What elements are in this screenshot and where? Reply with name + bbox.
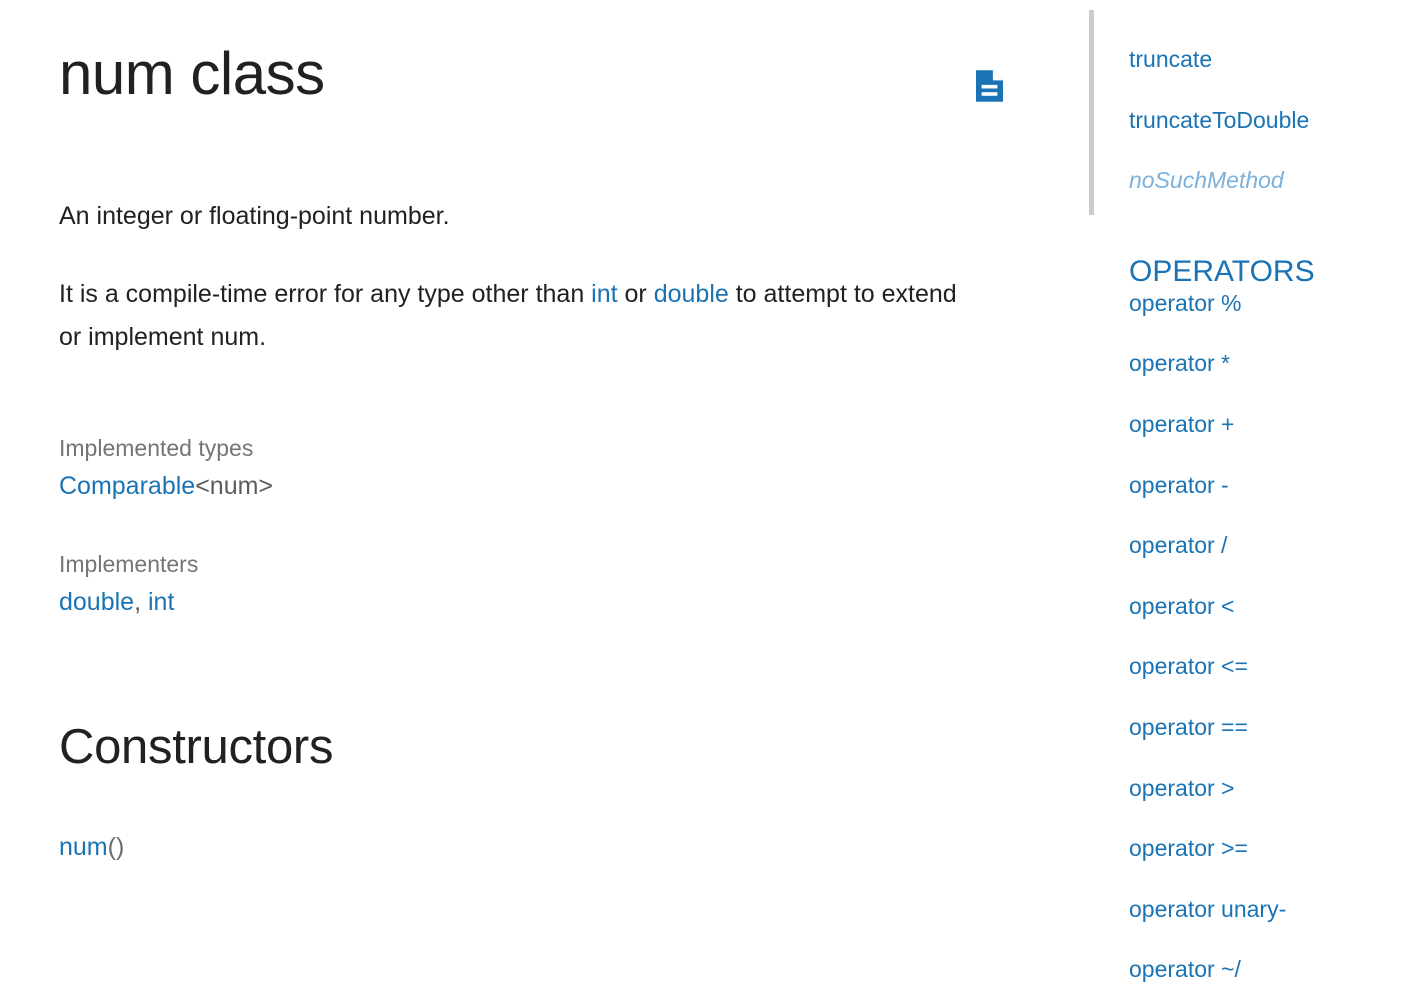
page-title: num class bbox=[59, 0, 1040, 105]
sidebar-item-truncatetodouble[interactable]: truncateToDouble bbox=[1129, 74, 1422, 135]
comparable-link[interactable]: Comparable bbox=[59, 472, 195, 500]
sidebar-operators-list: operator % operator * operator + operato… bbox=[1129, 290, 1422, 984]
sidebar-item-operator-greater-than[interactable]: operator > bbox=[1129, 742, 1422, 803]
implemented-types-label: Implemented types bbox=[59, 432, 1040, 465]
comparable-generic: <num> bbox=[195, 472, 273, 500]
constructors-heading: Constructors bbox=[59, 621, 1040, 775]
implementers-block: Implementers double, int bbox=[59, 548, 1040, 621]
sidebar-divider bbox=[1089, 10, 1094, 215]
sidebar-item-operator-divide[interactable]: operator / bbox=[1129, 499, 1422, 560]
sidebar: truncate truncateToDouble noSuchMethod O… bbox=[1089, 0, 1422, 984]
description-paragraph-2: It is a compile-time error for any type … bbox=[59, 273, 964, 360]
num-constructor-signature: () bbox=[108, 833, 125, 861]
sidebar-item-nosuchmethod[interactable]: noSuchMethod bbox=[1129, 134, 1422, 195]
implementers-label: Implementers bbox=[59, 548, 1040, 581]
title-row: num class bbox=[59, 0, 1040, 120]
sidebar-item-operator-equals[interactable]: operator == bbox=[1129, 681, 1422, 742]
sidebar-item-operator-less-equal[interactable]: operator <= bbox=[1129, 620, 1422, 681]
sidebar-item-operator-greater-equal[interactable]: operator >= bbox=[1129, 802, 1422, 863]
sidebar-item-operator-less-than[interactable]: operator < bbox=[1129, 560, 1422, 621]
sidebar-section-operators[interactable]: OPERATORS bbox=[1129, 195, 1422, 290]
sidebar-item-truncate[interactable]: truncate bbox=[1129, 0, 1422, 74]
paragraph-2-text-2: or bbox=[618, 280, 654, 308]
implemented-types-value: Comparable<num> bbox=[59, 468, 1040, 504]
description-icon[interactable] bbox=[976, 70, 1003, 102]
description-paragraph-1: An integer or floating-point number. bbox=[59, 195, 964, 239]
num-constructor-link[interactable]: num bbox=[59, 833, 108, 861]
implementers-separator: , bbox=[134, 588, 148, 616]
sidebar-member-list: truncate truncateToDouble noSuchMethod bbox=[1129, 0, 1422, 195]
paragraph-2-text-1: It is a compile-time error for any type … bbox=[59, 280, 591, 308]
sidebar-item-operator-truncating-divide[interactable]: operator ~/ bbox=[1129, 923, 1422, 984]
documentation-page: num class An integer or floating-point n… bbox=[0, 0, 1422, 984]
sidebar-item-operator-unary-minus[interactable]: operator unary- bbox=[1129, 863, 1422, 924]
main-content: num class An integer or floating-point n… bbox=[0, 0, 1080, 984]
sidebar-item-operator-plus[interactable]: operator + bbox=[1129, 378, 1422, 439]
constructor-item: num() bbox=[59, 831, 1040, 864]
sidebar-item-operator-multiply[interactable]: operator * bbox=[1129, 317, 1422, 378]
sidebar-item-operator-modulo[interactable]: operator % bbox=[1129, 290, 1422, 318]
double-implementer-link[interactable]: double bbox=[59, 588, 134, 616]
int-implementer-link[interactable]: int bbox=[148, 588, 174, 616]
implemented-types-block: Implemented types Comparable<num> bbox=[59, 432, 1040, 505]
implementers-value: double, int bbox=[59, 584, 1040, 620]
double-link[interactable]: double bbox=[654, 280, 729, 308]
sidebar-item-operator-minus[interactable]: operator - bbox=[1129, 439, 1422, 500]
int-link[interactable]: int bbox=[591, 280, 617, 308]
